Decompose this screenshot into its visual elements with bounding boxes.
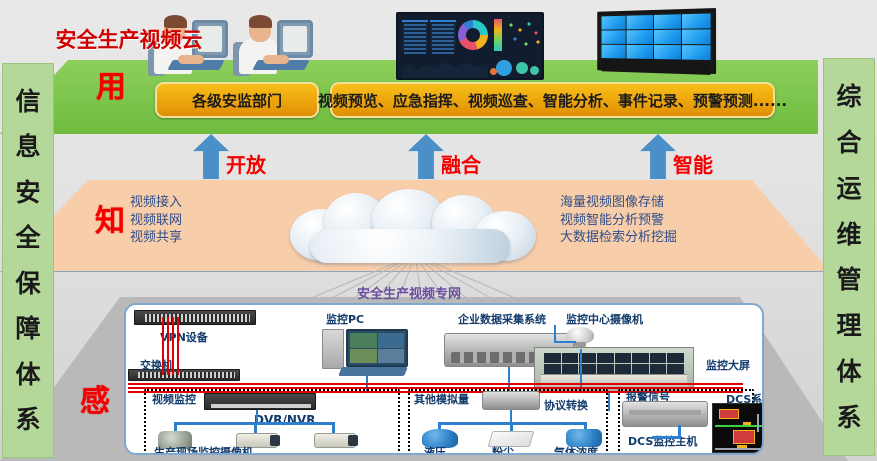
cloud-shape	[284, 189, 542, 265]
cloud-right-item: 大数据检索分析挖掘	[560, 229, 677, 247]
left-banner-char: 障	[15, 316, 40, 341]
blue-link	[608, 393, 610, 411]
arrow-open-icon	[193, 134, 229, 179]
function-box[interactable]: 视频预览、应急指挥、视频巡查、智能分析、事件记录、预警预测......	[330, 82, 775, 118]
control-desk	[541, 374, 686, 387]
cloud-left-capabilities: 视频接入 视频联网 视频共享	[130, 194, 182, 247]
video-wall-cell	[602, 30, 626, 44]
label-data-collect: 企业数据采集系统	[458, 311, 546, 327]
cloud-left-item: 视频联网	[130, 212, 182, 230]
dcs-pipe	[715, 448, 764, 450]
video-wall-cell	[627, 45, 653, 59]
label-center-camera: 监控中心摄像机	[566, 311, 643, 327]
dashboard-bubble	[530, 66, 539, 75]
sensor-label-hydraulic: 液压	[424, 444, 446, 455]
arrow-fusion-icon	[408, 134, 444, 179]
red-trunk-line	[177, 317, 179, 375]
blue-link	[256, 410, 258, 422]
pc-screen-cell	[378, 333, 405, 348]
video-wall-cell	[682, 29, 711, 44]
cloud-left-item: 视频共享	[130, 229, 182, 247]
monitor-shape	[277, 20, 313, 58]
dcs-marker	[737, 445, 747, 448]
switch-ports	[145, 314, 251, 322]
arrow-label-intelligent: 智能	[673, 149, 713, 178]
bullet-camera-lens	[348, 435, 358, 446]
dashboard-scatter-chart	[506, 19, 542, 51]
right-banner: 综 合 运 维 管 理 体 系	[823, 58, 875, 456]
dcs-pipe	[757, 414, 759, 432]
layer-label-know: 知	[95, 196, 125, 240]
red-trunk-line	[167, 317, 169, 375]
label-monitor-pc: 监控PC	[326, 311, 364, 327]
video-wall-cell	[653, 45, 680, 60]
screen-shape	[283, 26, 307, 52]
right-banner-char: 合	[836, 130, 861, 155]
red-trunk-line	[162, 317, 164, 375]
cloud-left-item: 视频接入	[130, 194, 182, 212]
video-wall-cell	[602, 16, 626, 30]
dvr-nvr-icon	[204, 393, 316, 410]
sensor-label-gas: 气体浓度	[554, 444, 598, 455]
sensor-label-dust: 粉尘	[492, 444, 514, 455]
left-banner-char: 信	[15, 89, 40, 114]
arm-shape	[263, 55, 289, 64]
right-banner-char: 维	[836, 222, 861, 247]
blue-link	[554, 341, 576, 343]
vpn-device-icon	[134, 310, 256, 325]
architecture-diagram: 感 知 用	[0, 0, 877, 461]
right-banner-char: 运	[836, 176, 861, 201]
red-bus-line	[128, 383, 743, 385]
video-wall-cell	[682, 45, 711, 60]
dcs-system-screen	[712, 403, 764, 453]
protocol-converter-icon	[482, 391, 540, 410]
label-big-screen: 监控大屏	[706, 357, 750, 373]
right-banner-char: 理	[836, 313, 861, 338]
group-caption-cameras: 生产现场监控摄像机	[154, 444, 253, 455]
dashboard-bubble	[516, 62, 528, 74]
right-banner-char: 管	[836, 267, 861, 292]
left-banner-char: 全	[15, 225, 40, 250]
pc-screen-cell	[350, 333, 377, 348]
arrow-intelligent-icon	[640, 134, 676, 179]
arrow-label-fusion: 融合	[441, 149, 481, 178]
right-banner-char: 综	[836, 84, 861, 109]
dept-box[interactable]: 各级安监部门	[155, 82, 319, 118]
blue-link	[652, 436, 680, 439]
dashboard-donut-chart	[458, 20, 488, 50]
video-wall-cell	[627, 30, 653, 44]
cloud-title: 安全生产视频云	[0, 24, 258, 54]
cloud-right-item: 视频智能分析预警	[560, 212, 677, 230]
pc-tower-icon	[322, 329, 344, 369]
pc-screen-cell	[378, 349, 405, 364]
left-banner-char: 体	[15, 362, 40, 387]
dashboard-area-chart	[402, 56, 488, 78]
private-network-label: 安全生产视频专网	[0, 283, 818, 302]
dashboard-bubble	[490, 68, 497, 75]
dcs-host-icon	[622, 401, 708, 427]
red-trunk-line	[172, 317, 174, 375]
dcs-host-panel	[629, 410, 701, 415]
left-banner-char: 息	[15, 134, 40, 159]
wall-cells	[544, 353, 683, 373]
pc-screen-cell	[350, 349, 377, 364]
left-banner: 信 息 安 全 保 障 体 系	[2, 63, 54, 458]
video-wall-cell	[682, 13, 711, 28]
dashboard-table	[430, 20, 456, 50]
cloud-right-item: 海量视频图像存储	[560, 194, 677, 212]
left-banner-char: 系	[15, 407, 40, 432]
group-device-protocol: 协议转换	[544, 397, 588, 413]
dashboard-screen-illustration	[396, 12, 544, 80]
dashboard-table	[402, 20, 428, 50]
infrastructure-panel: VPN设备 交换机 监控PC 企业数据采集系统 监控中心摄像机	[124, 303, 764, 455]
layer-label-sense: 感	[80, 376, 110, 420]
dashboard-colorbar	[494, 19, 502, 51]
video-wall-cell	[602, 45, 626, 59]
pc-screen-grid	[350, 333, 404, 363]
group-title-video: 视频监控	[152, 391, 196, 407]
left-banner-char: 保	[15, 271, 40, 296]
bullet-camera-lens	[270, 435, 280, 446]
arrow-label-open: 开放	[226, 149, 266, 178]
dcs-marker	[743, 422, 751, 425]
group-title-analog: 其他模拟量	[414, 391, 469, 407]
dashboard-bubble	[496, 60, 512, 76]
cloud-right-capabilities: 海量视频图像存储 视频智能分析预警 大数据检索分析挖掘	[560, 194, 677, 247]
pc-monitor-icon	[346, 329, 408, 367]
video-wall-cell	[653, 30, 680, 44]
right-banner-char: 系	[836, 405, 861, 430]
video-wall-cell	[653, 14, 680, 29]
left-banner-char: 安	[15, 180, 40, 205]
right-banner-char: 体	[836, 359, 861, 384]
video-wall-illustration	[597, 8, 716, 74]
video-wall-cell	[627, 15, 653, 29]
blue-link	[510, 410, 512, 422]
cloud-puff	[310, 229, 510, 263]
dcs-block	[733, 430, 755, 444]
video-wall-grid	[602, 13, 711, 60]
switch-ports	[138, 372, 235, 378]
arm-shape	[178, 55, 204, 64]
pc-keyboard-icon	[338, 367, 408, 376]
dvr-front-panel	[211, 404, 311, 408]
dcs-block	[719, 409, 739, 419]
layer-label-use: 用	[96, 62, 126, 106]
